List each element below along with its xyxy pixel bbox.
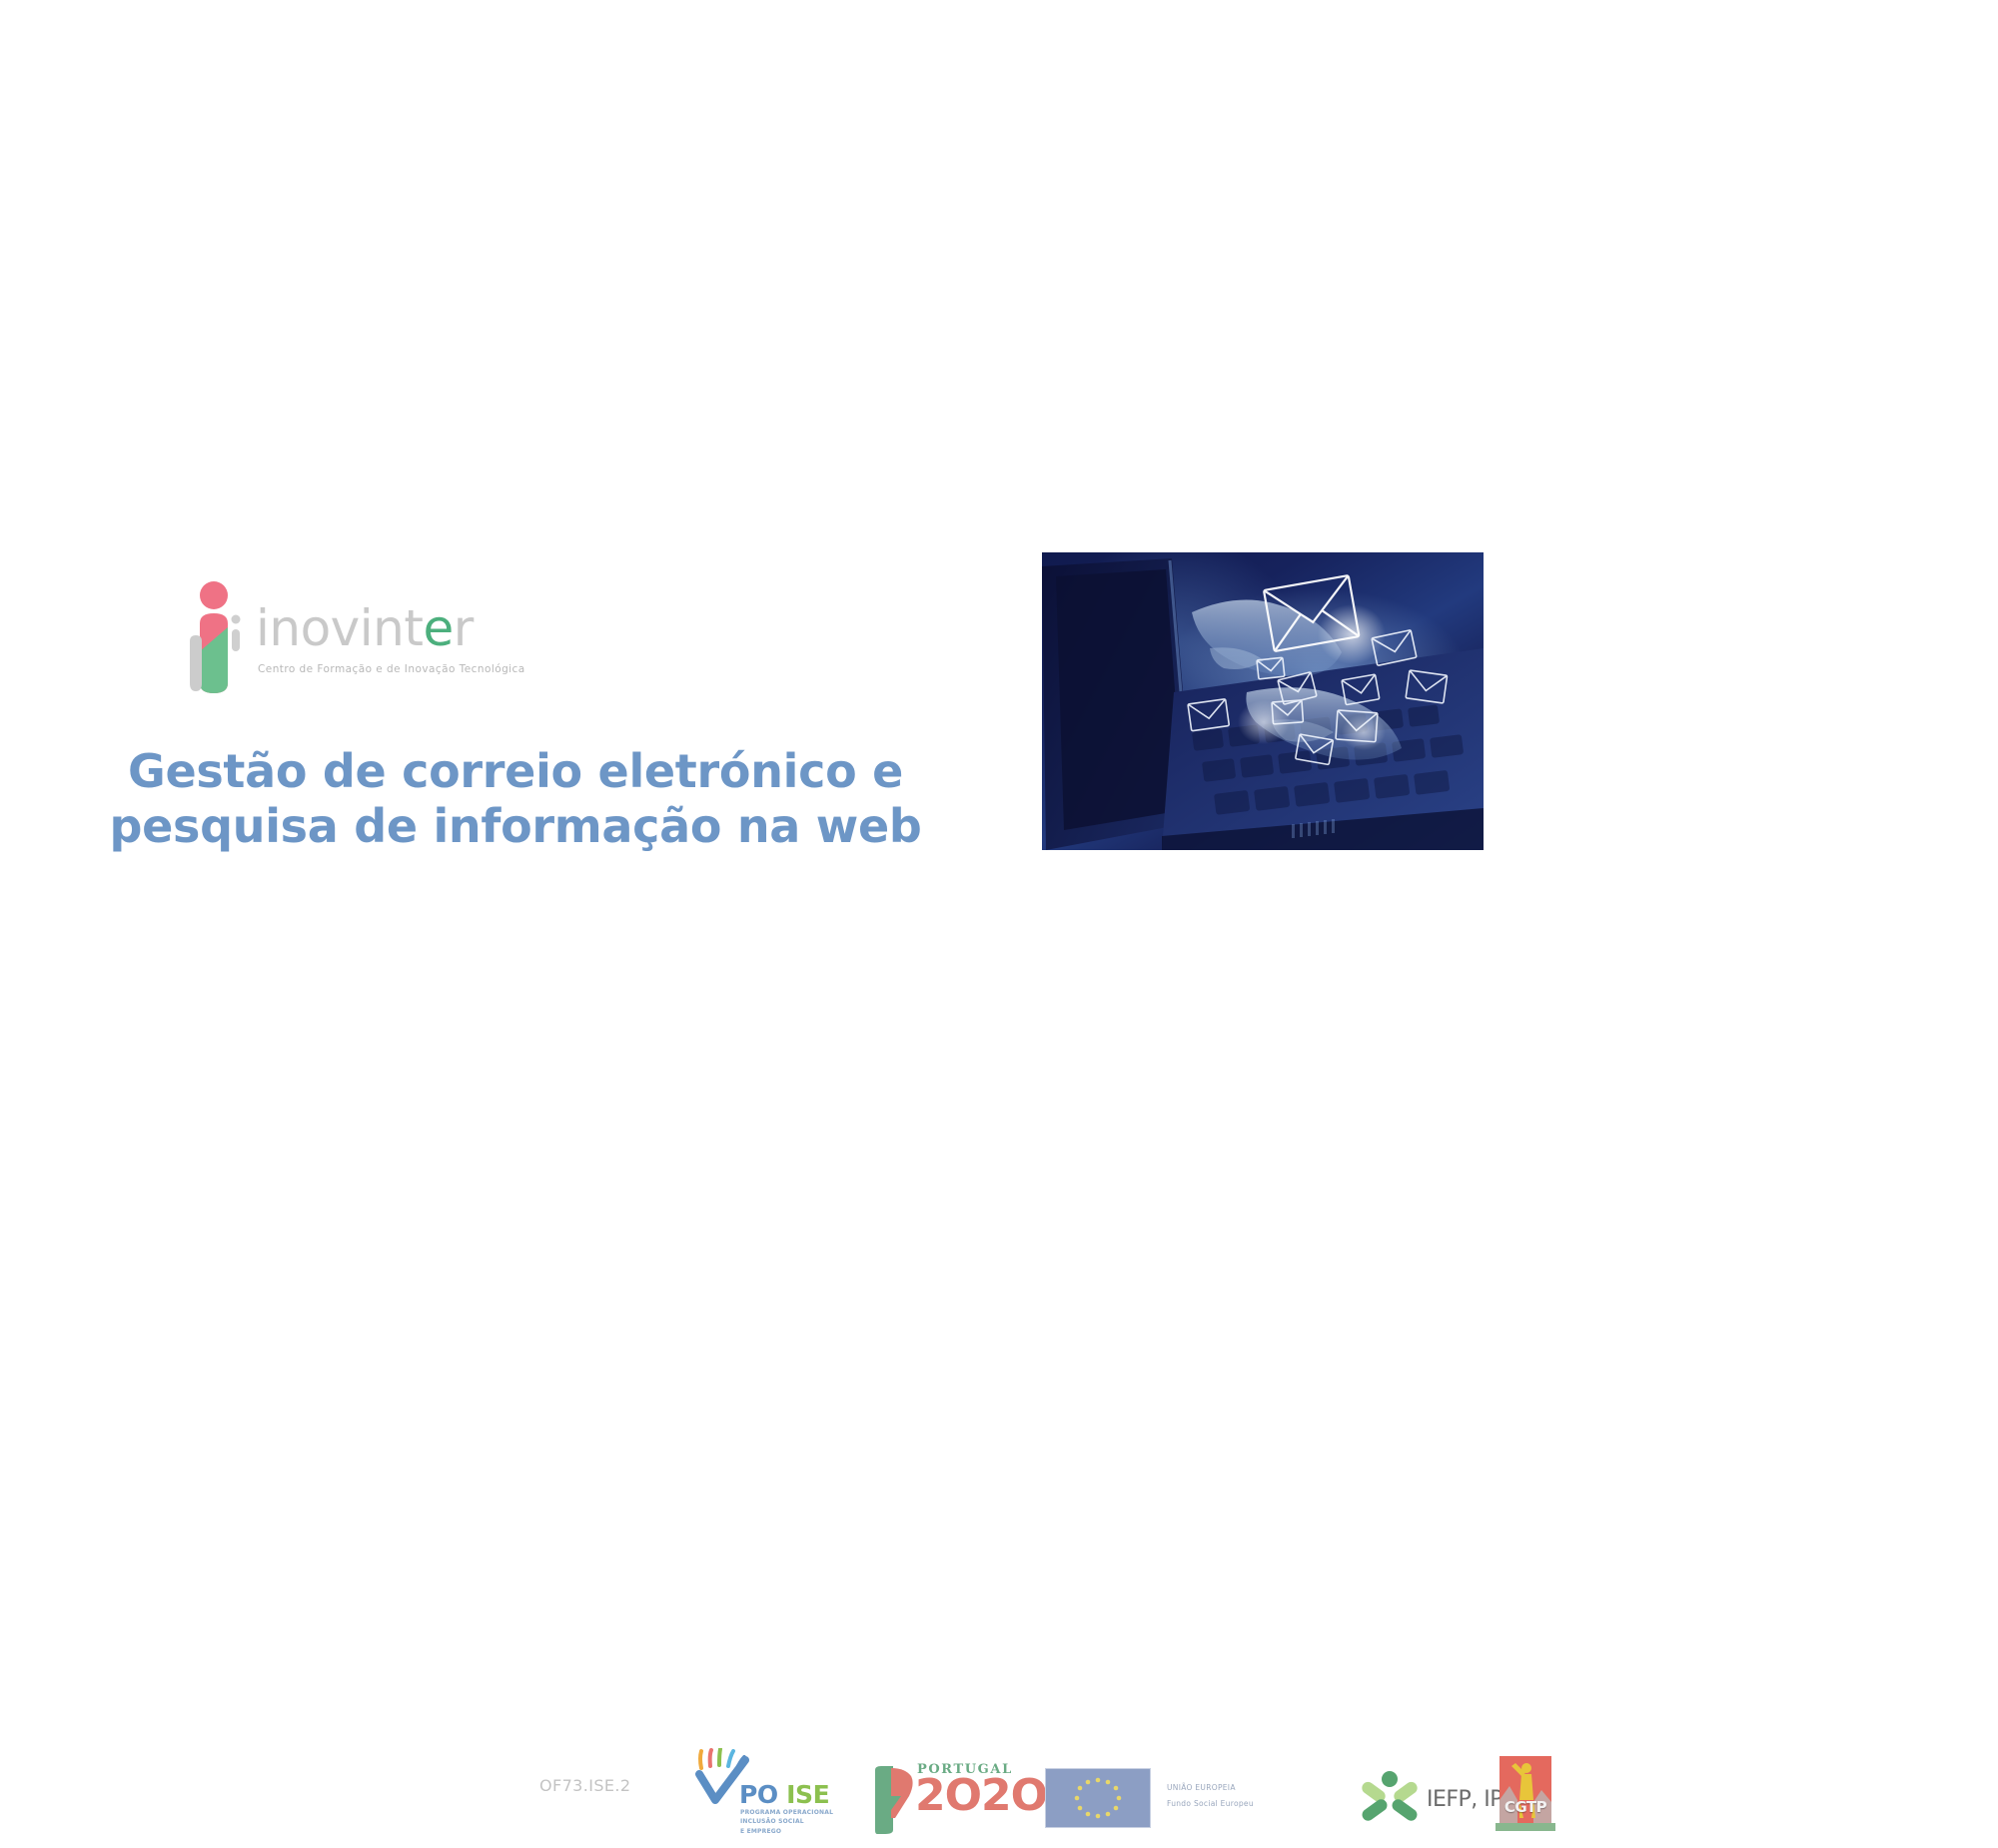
eu-caption-line2: Fundo Social Europeu <box>1167 1796 1254 1812</box>
po-ise-text-po: PO <box>739 1780 778 1809</box>
inovinter-logo: inovinter Centro de Formação e de Inovaç… <box>188 579 488 699</box>
cgtp-label: CGTP <box>1499 1798 1551 1816</box>
logo-cgtp: CGTP <box>1496 1756 1557 1836</box>
po-ise-subtitle-line3: E EMPREGO <box>740 1827 833 1836</box>
page-title-line2: pesquisa de informação na web <box>96 799 935 854</box>
po-ise-text-ise: ISE <box>786 1780 829 1809</box>
footer-logo-band: OF73.ISE.2 PO ISE PROGRAMA OPERACIONAL I… <box>0 869 1998 999</box>
cgtp-base-bar <box>1496 1823 1555 1831</box>
po-ise-subtitle-line2: INCLUSÃO SOCIAL <box>740 1817 833 1826</box>
portugal-2020-number: 2O2O <box>915 1774 1047 1818</box>
logo-portugal-2020: PORTUGAL 2O2O <box>871 1760 1051 1838</box>
slide-canvas: inovinter Centro de Formação e de Inovaç… <box>0 0 1998 999</box>
email-laptop-image <box>1042 552 1484 850</box>
page-title: Gestão de correio eletrónico e pesquisa … <box>96 744 935 854</box>
inovinter-wordmark: inovinter <box>256 603 474 653</box>
email-laptop-illustration <box>1042 552 1484 850</box>
inovinter-tagline: Centro de Formação e de Inovação Tecnoló… <box>258 663 525 675</box>
portugal-2020-flag-icon <box>871 1766 915 1836</box>
po-ise-subtitle-line1: PROGRAMA OPERACIONAL <box>740 1808 833 1817</box>
inovinter-word-part1: inovint <box>256 599 423 657</box>
page-title-line1: Gestão de correio eletrónico e <box>128 744 903 798</box>
eu-flag-icon <box>1045 1768 1151 1828</box>
iefp-person-icon <box>1359 1770 1421 1830</box>
eu-stars-icon <box>1046 1769 1150 1827</box>
inovinter-mark-icon <box>188 579 244 697</box>
eu-caption-line1: UNIÃO EUROPEIA <box>1167 1780 1254 1796</box>
course-code: OF73.ISE.2 <box>539 1776 631 1795</box>
logo-european-union: UNIÃO EUROPEIA Fundo Social Europeu <box>1045 1768 1295 1830</box>
iefp-label: IEFP, IP <box>1427 1787 1502 1812</box>
logo-po-ise: PO ISE PROGRAMA OPERACIONAL INCLUSÃO SOC… <box>689 1748 849 1848</box>
eu-caption: UNIÃO EUROPEIA Fundo Social Europeu <box>1167 1780 1254 1812</box>
inovinter-word-part3: r <box>454 599 474 657</box>
inovinter-word-part2: e <box>423 599 453 657</box>
po-ise-subtitle: PROGRAMA OPERACIONAL INCLUSÃO SOCIAL E E… <box>740 1808 833 1836</box>
po-ise-wordmark: PO ISE <box>739 1780 829 1809</box>
